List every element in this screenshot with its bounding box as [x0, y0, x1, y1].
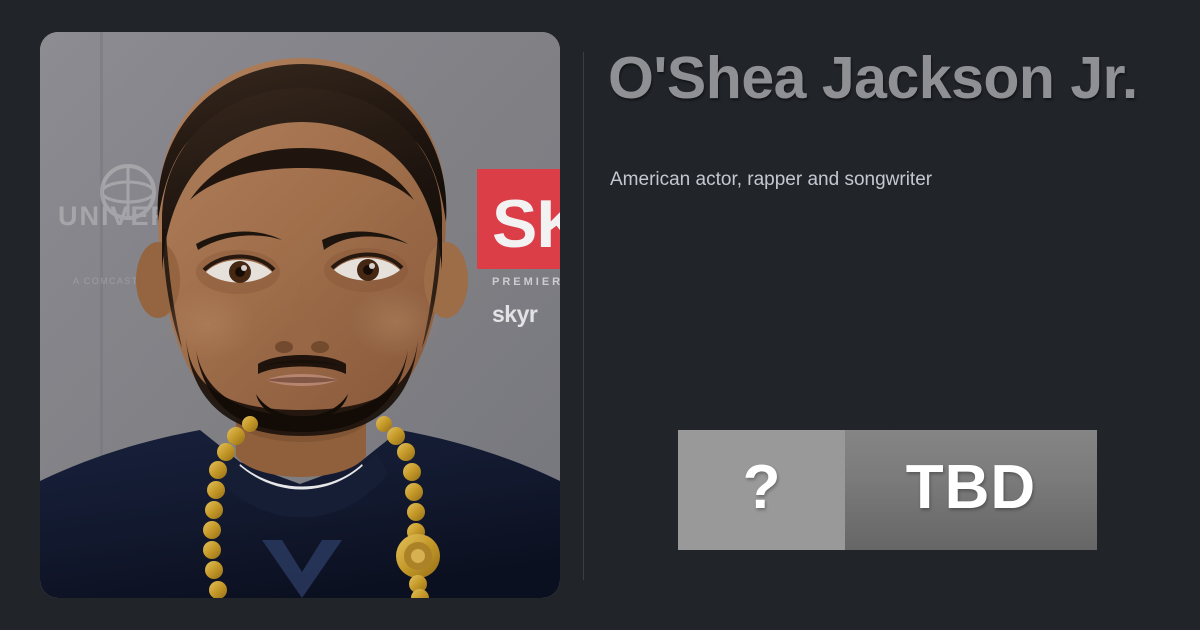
status-badge-label-segment: TBD	[845, 430, 1097, 550]
status-badge-icon-segment: ?	[678, 430, 845, 550]
person-photo[interactable]: UNIVERS A COMCAST COMPANY SKY PREMIER sk…	[40, 32, 560, 598]
person-photo-image: UNIVERS A COMCAST COMPANY SKY PREMIER sk…	[40, 32, 560, 598]
page-title: O'Shea Jackson Jr.	[608, 49, 1138, 108]
info-column: O'Shea Jackson Jr. American actor, rappe…	[608, 32, 1200, 598]
status-badge-label: TBD	[906, 457, 1036, 519]
question-mark-icon: ?	[743, 457, 781, 519]
person-description: American actor, rapper and songwriter	[610, 164, 940, 196]
status-badge[interactable]: ? TBD	[678, 430, 1097, 550]
vertical-divider	[583, 52, 584, 580]
person-info-card: UNIVERS A COMCAST COMPANY SKY PREMIER sk…	[0, 0, 1200, 630]
